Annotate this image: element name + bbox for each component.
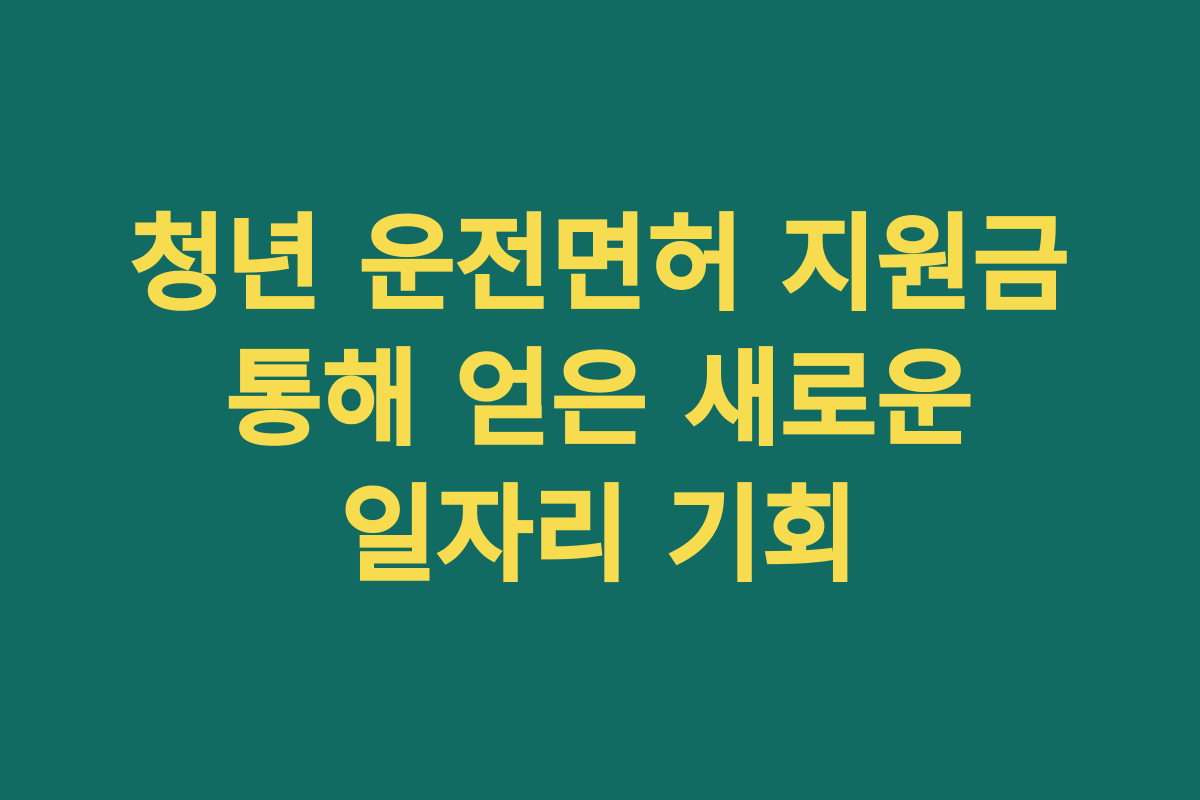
banner-canvas: 청년 운전면허 지원금 통해 얻은 새로운 일자리 기회 (0, 0, 1200, 800)
page-title: 청년 운전면허 지원금 통해 얻은 새로운 일자리 기회 (90, 197, 1110, 603)
headline-block: 청년 운전면허 지원금 통해 얻은 새로운 일자리 기회 (90, 197, 1110, 603)
